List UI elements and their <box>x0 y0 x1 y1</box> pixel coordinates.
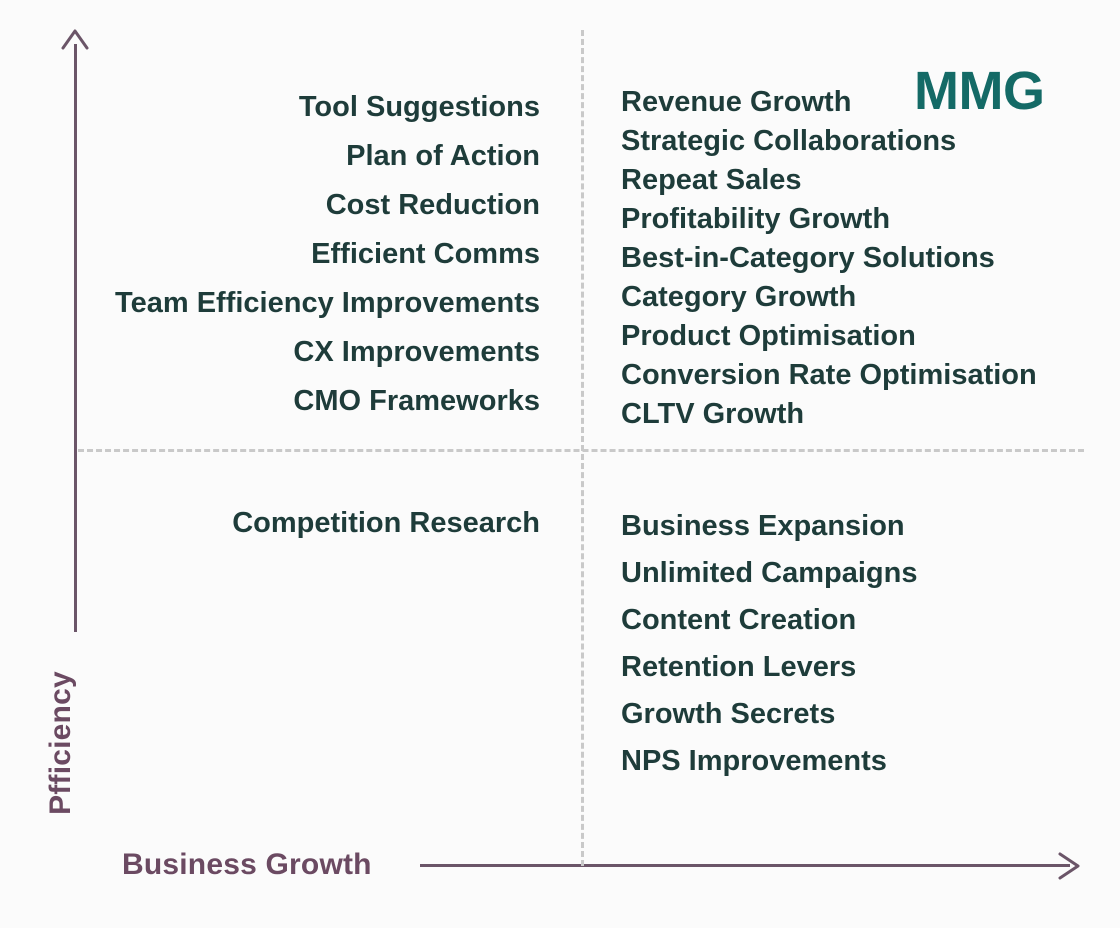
vertical-quadrant-divider <box>581 30 584 866</box>
x-axis-label: Business Growth <box>122 848 372 882</box>
quadrant-item: Conversion Rate Optimisation <box>621 356 1091 395</box>
quadrant-item: Growth Secrets <box>621 691 1091 738</box>
quadrant-item: Content Creation <box>621 597 1091 644</box>
quadrant-item: Revenue Growth <box>621 83 1091 122</box>
quadrant-item: Plan of Action <box>100 132 540 181</box>
quadrant-item: Best-in-Category Solutions <box>621 239 1091 278</box>
quadrant-bottom-right: Business ExpansionUnlimited CampaignsCon… <box>621 503 1091 785</box>
x-axis-line <box>420 864 1070 867</box>
quadrant-item: Profitability Growth <box>621 200 1091 239</box>
y-axis-label: Pfficiency <box>44 643 78 843</box>
quadrant-item: NPS Improvements <box>621 738 1091 785</box>
quadrant-item: Category Growth <box>621 278 1091 317</box>
arrow-up-icon <box>61 28 89 50</box>
quadrant-item: Team Efficiency Improvements <box>100 279 540 328</box>
quadrant-item: Unlimited Campaigns <box>621 550 1091 597</box>
quadrant-top-right: Revenue GrowthStrategic CollaborationsRe… <box>621 83 1091 434</box>
quadrant-item: CX Improvements <box>100 328 540 377</box>
quadrant-item: Tool Suggestions <box>100 83 540 132</box>
quadrant-item: CMO Frameworks <box>100 377 540 426</box>
quadrant-item: Retention Levers <box>621 644 1091 691</box>
quadrant-item: Business Expansion <box>621 503 1091 550</box>
arrow-right-icon <box>1052 852 1082 880</box>
quadrant-bottom-left: Competition Research <box>100 503 540 543</box>
quadrant-item: Repeat Sales <box>621 161 1091 200</box>
quadrant-item: Competition Research <box>100 503 540 543</box>
quadrant-item: Product Optimisation <box>621 317 1091 356</box>
quadrant-item: Cost Reduction <box>100 181 540 230</box>
quadrant-top-left: Tool SuggestionsPlan of ActionCost Reduc… <box>100 83 540 426</box>
quadrant-matrix-chart: Pfficiency Business Growth MMG Tool Sugg… <box>0 0 1120 928</box>
quadrant-item: CLTV Growth <box>621 395 1091 434</box>
y-axis-line <box>74 44 77 632</box>
quadrant-item: Strategic Collaborations <box>621 122 1091 161</box>
quadrant-item: Efficient Comms <box>100 230 540 279</box>
